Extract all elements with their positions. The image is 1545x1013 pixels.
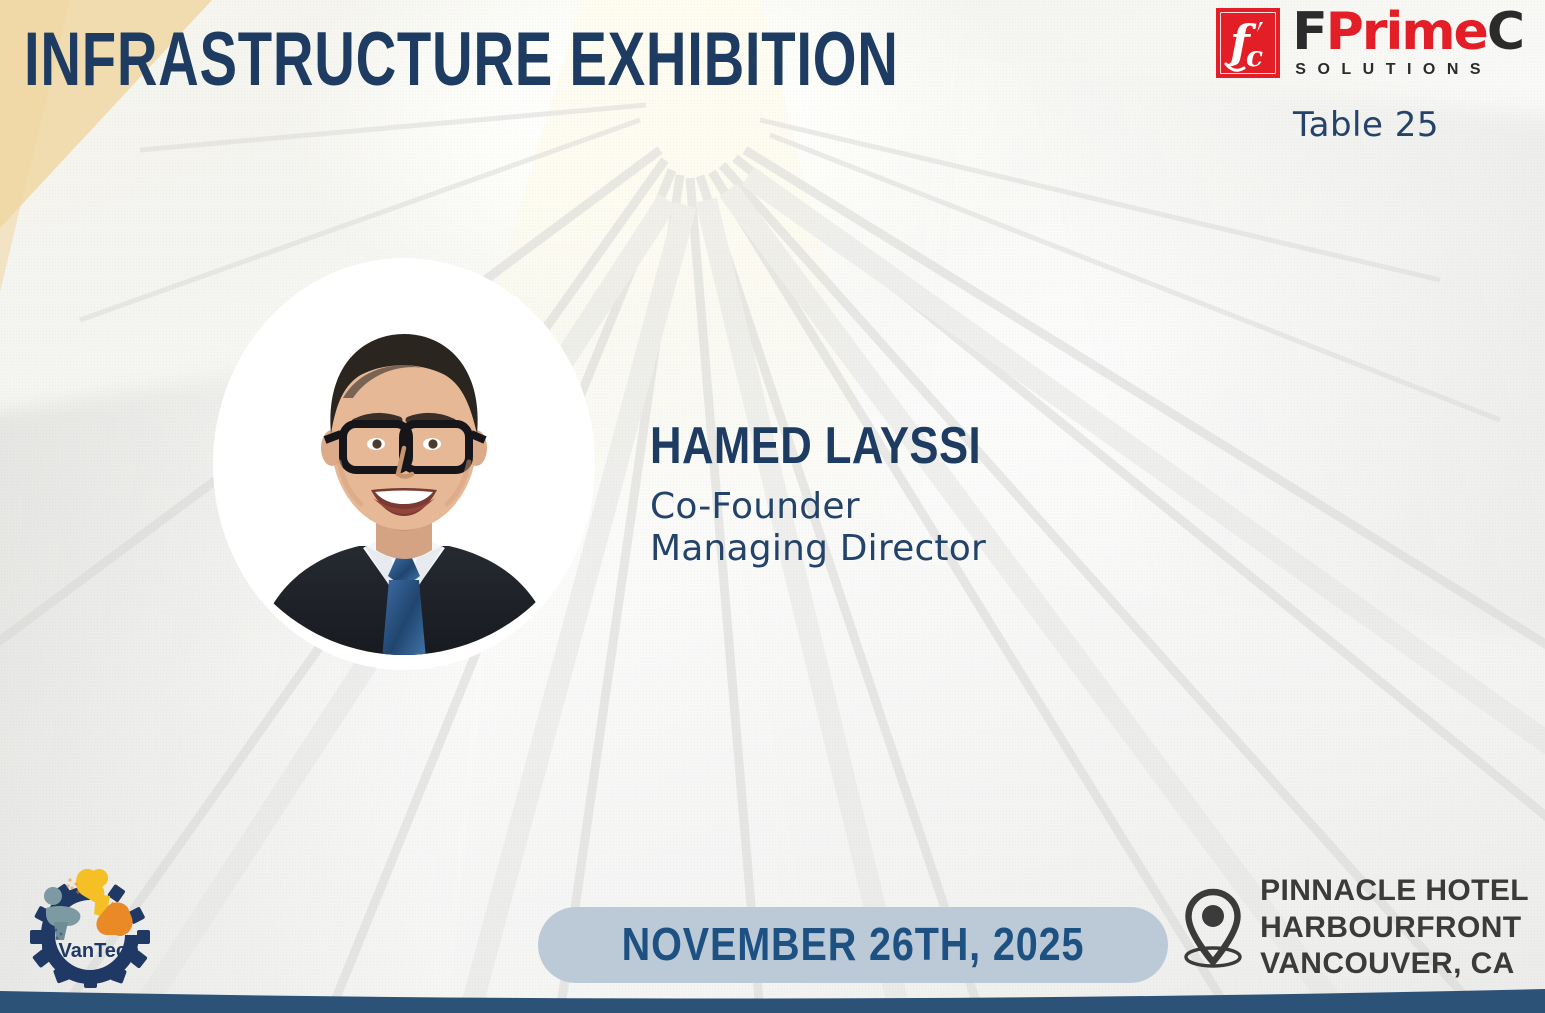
venue-line-2: HARBOURFRONT	[1260, 910, 1529, 947]
svg-text:f: f	[1227, 15, 1257, 69]
speaker-role: Co-Founder Managing Director	[650, 486, 1044, 571]
venue-line-1: PINNACLE HOTEL	[1260, 873, 1529, 910]
table-number: Table 25	[1293, 105, 1439, 145]
invantech-wordmark: InVanTech	[41, 940, 140, 962]
speaker-role-line2: Managing Director	[650, 528, 1044, 570]
event-date-text: NOVEMBER 26TH, 2025	[622, 921, 1085, 967]
location-pin-icon	[1180, 884, 1246, 972]
page-title: INFRASTRUCTURE EXHIBITION	[24, 22, 899, 98]
invantech-logo: InVanTech	[20, 856, 160, 991]
speaker-info: HAMED LAYSSI Co-Founder Managing Directo…	[650, 420, 1044, 571]
bottom-bar	[0, 977, 1545, 1013]
fprimec-tagline: SOLUTIONS	[1292, 61, 1492, 79]
venue-block: PINNACLE HOTEL HARBOURFRONT VANCOUVER, C…	[1180, 873, 1529, 983]
brand-name-prime: Prime	[1326, 2, 1487, 62]
banner-canvas: INFRASTRUCTURE EXHIBITION f c FPrimeC SO…	[0, 0, 1545, 1013]
speaker-role-line1: Co-Founder	[650, 486, 1044, 528]
venue-address: PINNACLE HOTEL HARBOURFRONT VANCOUVER, C…	[1260, 873, 1529, 983]
event-date-badge: NOVEMBER 26TH, 2025	[538, 907, 1168, 983]
fprimec-logo: f c FPrimeC SOLUTIONS	[1183, 8, 1523, 79]
fprimec-mark-icon: f c	[1216, 8, 1280, 78]
speaker-name: HAMED LAYSSI	[650, 420, 981, 472]
fprimec-wordmark: FPrimeC	[1292, 8, 1523, 58]
brand-name-f: F	[1292, 2, 1326, 62]
svg-text:c: c	[1246, 40, 1263, 73]
speaker-avatar	[213, 258, 595, 670]
brand-name-c: C	[1487, 2, 1523, 62]
